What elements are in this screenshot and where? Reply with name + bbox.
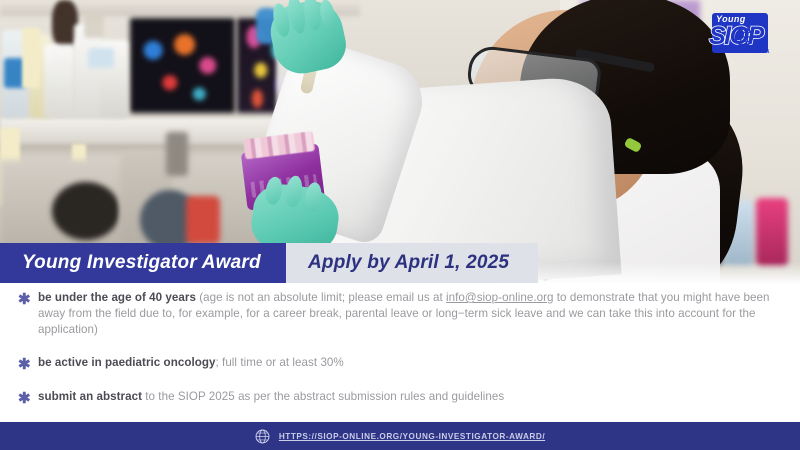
eligibility-list: ✱ be under the age of 40 years (age is n…	[0, 288, 800, 420]
deadline-banner: Apply by April 1, 2025	[286, 243, 538, 283]
footer-link-group[interactable]: HTTPS://SIOP-ONLINE.ORG/YOUNG-INVESTIGAT…	[255, 429, 545, 444]
asterisk-bullet-icon: ✱	[18, 355, 38, 373]
globe-icon	[255, 429, 270, 444]
bullet-rest-before: (age is not an absolute limit; please em…	[196, 291, 446, 304]
asterisk-bullet-icon: ✱	[18, 389, 38, 407]
bullet-bold: be active in paediatric oncology	[38, 356, 216, 369]
bottle	[74, 24, 102, 118]
lab-equipment	[52, 182, 120, 240]
list-item: ✱ be under the age of 40 years (age is n…	[18, 290, 782, 339]
bullet-text: submit an abstract to the SIOP 2025 as p…	[38, 389, 504, 405]
sticky-note	[22, 28, 40, 88]
lab-equipment	[186, 196, 220, 244]
hero-photo	[0, 0, 800, 284]
deadline-text: Apply by April 1, 2025	[286, 252, 509, 274]
asterisk-bullet-icon: ✱	[18, 290, 38, 308]
email-link[interactable]: info@siop-online.org	[446, 291, 554, 304]
bottle	[44, 44, 74, 118]
bottle	[88, 48, 114, 68]
bullet-bold: be under the age of 40 years	[38, 291, 196, 304]
slide-root: Young SIOP Network Young Investigator Aw…	[0, 0, 800, 450]
footer-url-link[interactable]: HTTPS://SIOP-ONLINE.ORG/YOUNG-INVESTIGAT…	[279, 432, 545, 441]
bullet-text: be active in paediatric oncology; full t…	[38, 355, 344, 371]
logo-network-text: Network	[744, 49, 770, 55]
bottle	[84, 12, 104, 38]
footer-bar: HTTPS://SIOP-ONLINE.ORG/YOUNG-INVESTIGAT…	[0, 422, 800, 450]
list-item: ✱ submit an abstract to the SIOP 2025 as…	[18, 389, 782, 407]
award-title: Young Investigator Award	[0, 252, 261, 274]
young-siop-network-logo[interactable]: Young SIOP Network	[706, 9, 780, 65]
bullet-text: be under the age of 40 years (age is not…	[38, 290, 782, 339]
bullet-rest-before: to the SIOP 2025 as per the abstract sub…	[142, 390, 504, 403]
list-item: ✱ be active in paediatric oncology; full…	[18, 355, 782, 373]
poster-dark	[130, 18, 235, 113]
lab-equipment	[166, 132, 188, 176]
award-title-banner: Young Investigator Award	[0, 243, 286, 283]
lab-equipment	[756, 198, 788, 266]
bullet-rest-before: ; full time or at least 30%	[216, 356, 344, 369]
globe-icon	[734, 27, 754, 47]
bullet-bold: submit an abstract	[38, 390, 142, 403]
